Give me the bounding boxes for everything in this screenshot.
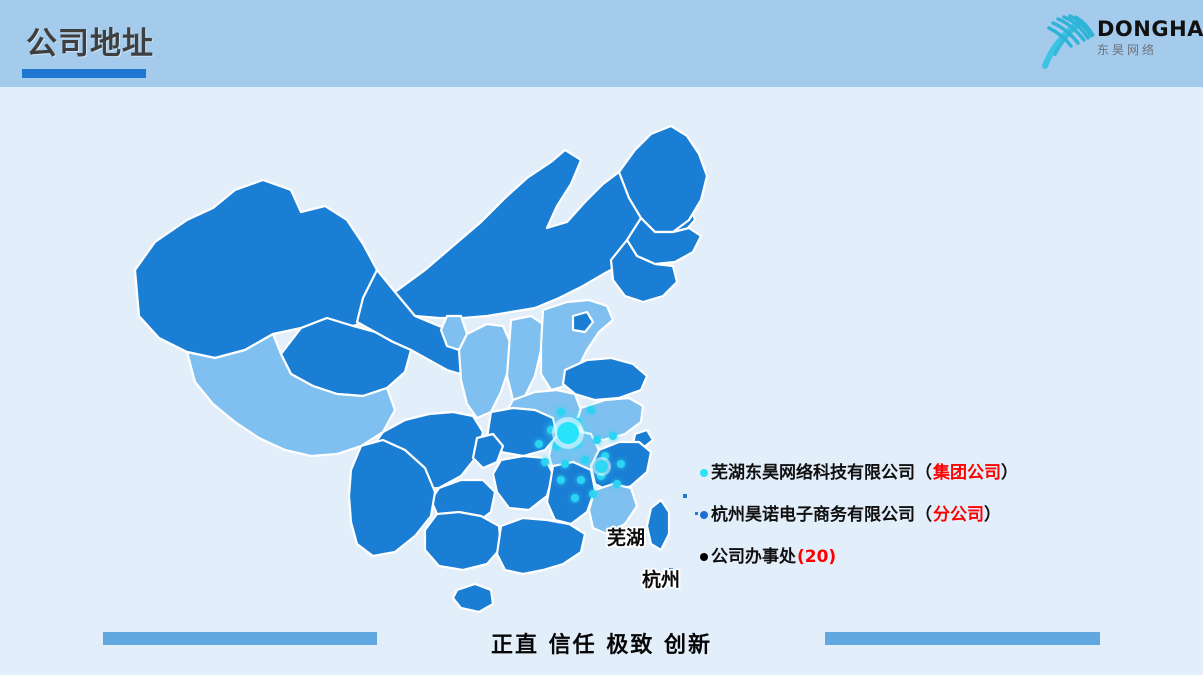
office-dot (553, 442, 561, 450)
office-dot (597, 472, 605, 480)
office-dot (617, 460, 625, 468)
china-map: 芜湖 杭州 (95, 120, 715, 620)
footer-bar-right (825, 632, 1100, 645)
office-dot (593, 436, 601, 444)
legend-item-group-company: 芜湖东昊网络科技有限公司 （ 集团公司 ） (700, 462, 1120, 484)
legend-item-offices: 公司办事处 (20) (700, 546, 1120, 568)
office-dot (581, 456, 589, 464)
legend-bullet-icon (700, 469, 708, 477)
legend-close-paren: ） (984, 504, 1001, 526)
province-shaanxi (459, 324, 511, 418)
legend-bullet-icon (700, 553, 708, 561)
legend-open-paren: （ (915, 504, 932, 526)
province-shanxi (507, 316, 543, 400)
province-guangxi (425, 512, 501, 570)
office-dot (535, 440, 543, 448)
legend-label: 芜湖东昊网络科技有限公司 (711, 462, 915, 484)
legend-tag: (20) (797, 546, 836, 568)
logo-text: DONGHAO 东昊网络 (1097, 18, 1195, 58)
branch-marker[interactable] (595, 460, 608, 473)
legend-tag: 分公司 (933, 504, 984, 526)
office-dot (601, 452, 609, 460)
province-jiangxi (547, 462, 595, 524)
logo-english-name: DONGHAO (1097, 18, 1195, 41)
office-dot (557, 408, 565, 416)
legend: 芜湖东昊网络科技有限公司 （ 集团公司 ） 杭州昊诺电子商务有限公司 （ 分公司… (700, 462, 1120, 568)
legend-label: 杭州昊诺电子商务有限公司 (711, 504, 915, 526)
title-underline (22, 69, 146, 78)
legend-bullet-icon (700, 511, 708, 519)
province-guangdong (497, 518, 585, 574)
office-dot (587, 406, 595, 414)
office-dot (613, 480, 621, 488)
legend-close-paren: ） (1001, 462, 1018, 484)
office-dot (577, 476, 585, 484)
legend-label: 公司办事处 (711, 546, 796, 568)
legend-open-paren: （ (915, 462, 932, 484)
headquarters-marker[interactable] (557, 422, 579, 444)
logo-chinese-name: 东昊网络 (1097, 42, 1195, 58)
office-dot (557, 476, 565, 484)
province-hainan (453, 584, 493, 612)
city-label-hangzhou: 杭州 (642, 565, 680, 592)
city-label-wuhu: 芜湖 (607, 523, 645, 550)
office-dot (561, 460, 569, 468)
office-dot (609, 432, 617, 440)
office-dot (547, 426, 555, 434)
brand-logo: DONGHAO 东昊网络 (1035, 10, 1195, 74)
legend-item-branch-company: 杭州昊诺电子商务有限公司 （ 分公司 ） (700, 504, 1120, 526)
province-taiwan (647, 500, 669, 550)
header-band: 公司地址 DONGHAO (0, 0, 1203, 87)
page-title: 公司地址 (26, 18, 154, 63)
feather-wing-icon (1035, 10, 1097, 72)
office-dot (541, 458, 549, 466)
office-dot (589, 490, 597, 498)
office-dot (571, 494, 579, 502)
slide: 公司地址 DONGHAO (0, 0, 1203, 675)
legend-tag: 集团公司 (933, 462, 1001, 484)
